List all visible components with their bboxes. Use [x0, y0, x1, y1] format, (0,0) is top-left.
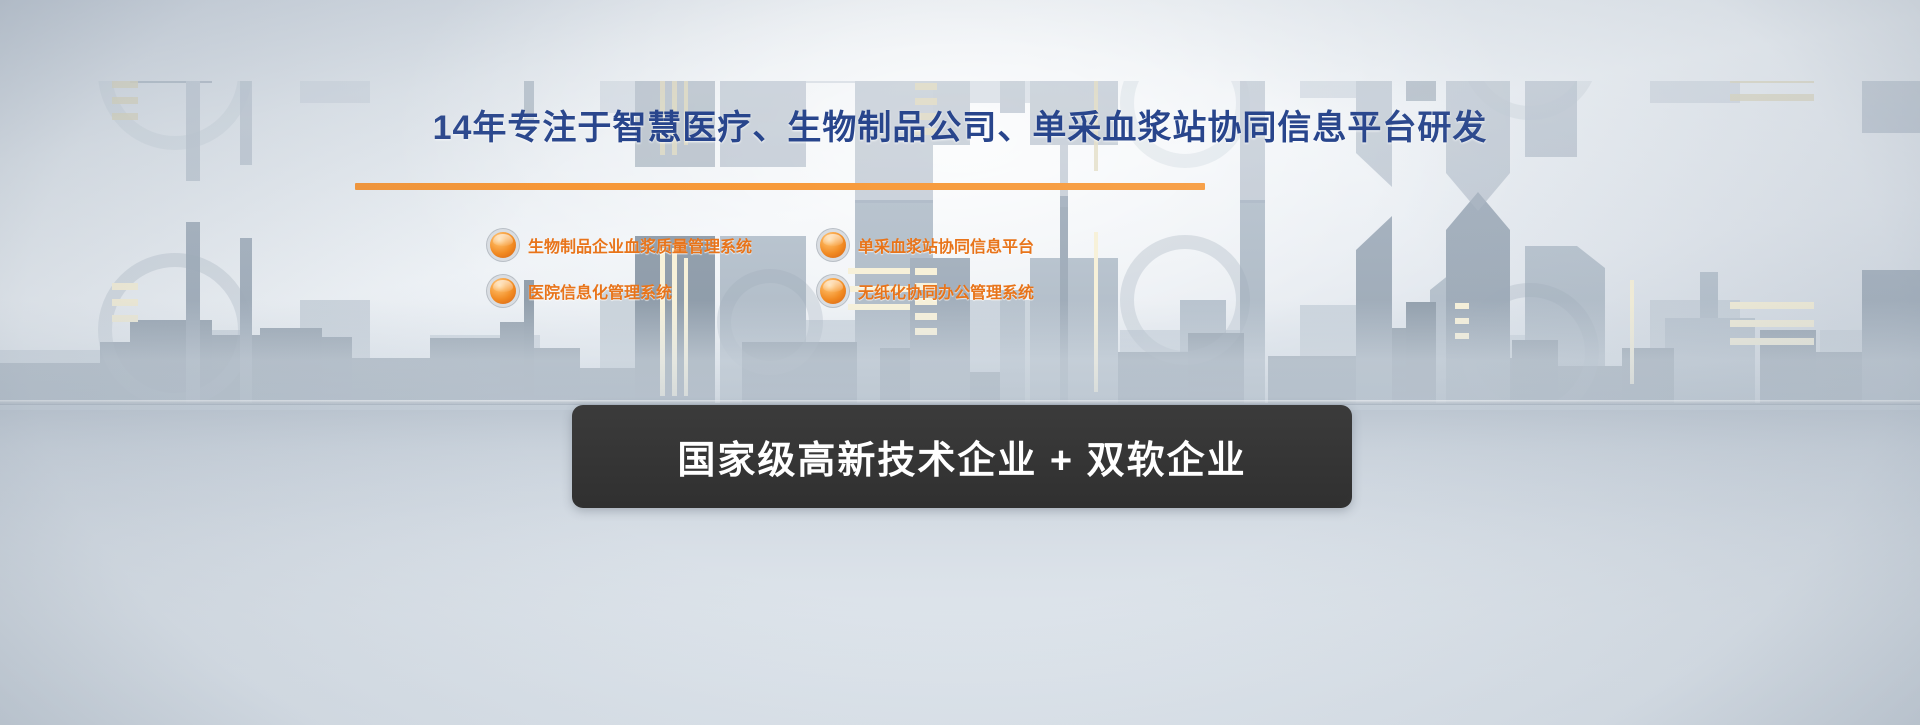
feature-row: 医院信息化管理系统 无纸化协同办公管理系统 — [490, 278, 1190, 304]
orange-sphere-bullet-icon — [820, 278, 846, 304]
feature-row: 生物制品企业血浆质量管理系统 单采血浆站协同信息平台 — [490, 232, 1190, 258]
orange-sphere-bullet-icon — [490, 232, 516, 258]
feature-item-plasma-station[interactable]: 单采血浆站协同信息平台 — [820, 232, 1150, 258]
feature-label: 单采血浆站协同信息平台 — [858, 233, 1034, 257]
feature-label: 医院信息化管理系统 — [528, 279, 672, 303]
headline-underline-accent — [355, 183, 1205, 190]
orange-sphere-bullet-icon — [490, 278, 516, 304]
banner-headline: 14年专注于智慧医疗、生物制品公司、单采血浆站协同信息平台研发 — [0, 100, 1920, 149]
feature-label: 无纸化协同办公管理系统 — [858, 279, 1034, 303]
certification-badge: 国家级高新技术企业 + 双软企业 — [572, 405, 1352, 508]
feature-item-hospital-informatization[interactable]: 医院信息化管理系统 — [490, 278, 820, 304]
feature-item-plasma-quality[interactable]: 生物制品企业血浆质量管理系统 — [490, 232, 820, 258]
feature-item-paperless-office[interactable]: 无纸化协同办公管理系统 — [820, 278, 1150, 304]
certification-badge-text: 国家级高新技术企业 + 双软企业 — [677, 429, 1246, 484]
orange-sphere-bullet-icon — [820, 232, 846, 258]
banner-content: 14年专注于智慧医疗、生物制品公司、单采血浆站协同信息平台研发 生物制品企业血浆… — [0, 0, 1920, 725]
feature-list: 生物制品企业血浆质量管理系统 单采血浆站协同信息平台 医院信息化管理系统 无纸化… — [490, 232, 1190, 324]
feature-label: 生物制品企业血浆质量管理系统 — [528, 233, 752, 257]
hero-banner: 14年专注于智慧医疗、生物制品公司、单采血浆站协同信息平台研发 生物制品企业血浆… — [0, 0, 1920, 725]
